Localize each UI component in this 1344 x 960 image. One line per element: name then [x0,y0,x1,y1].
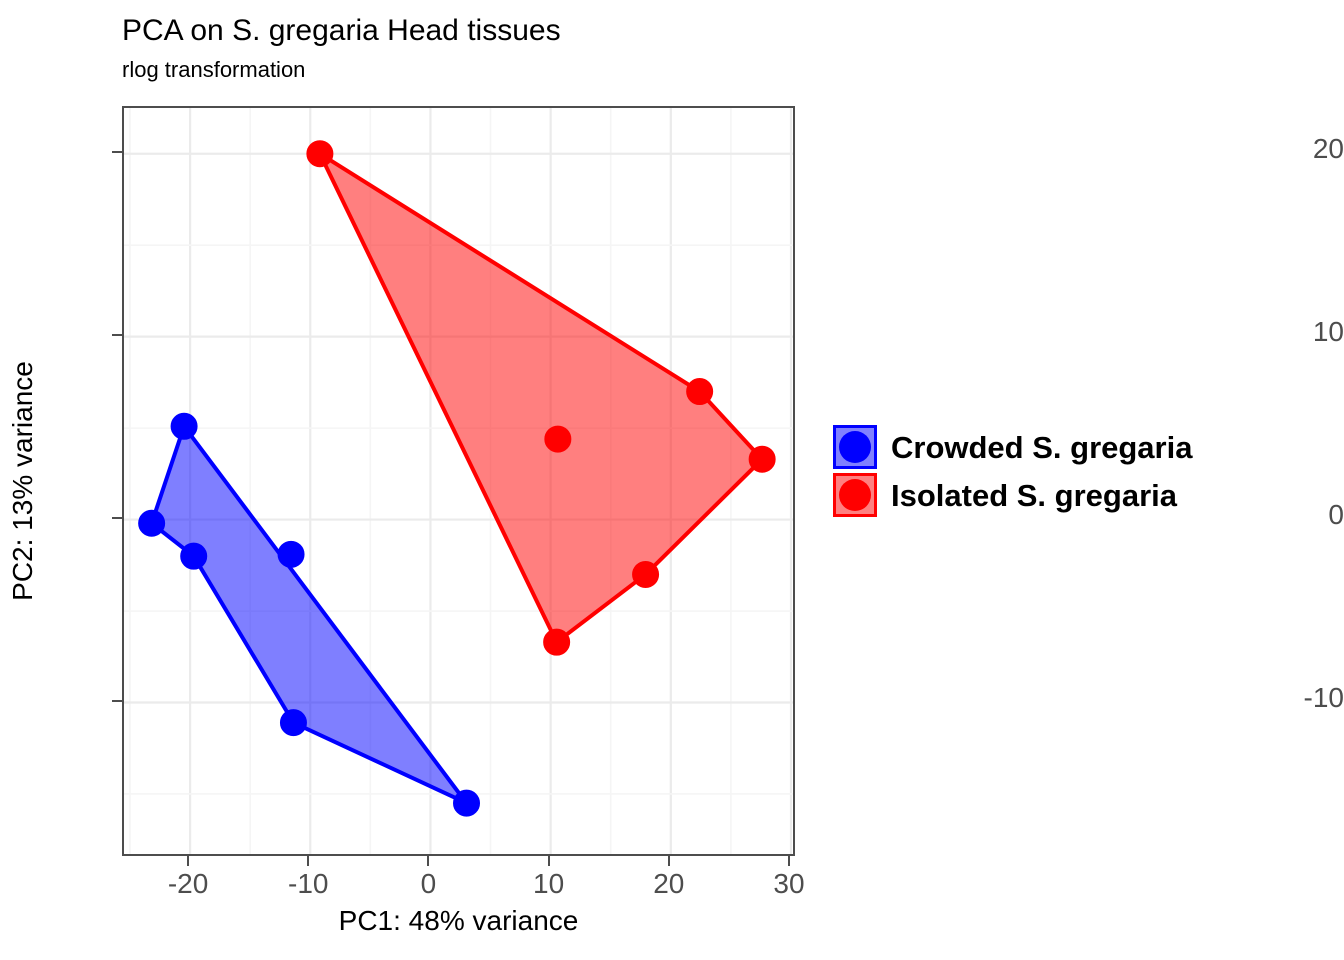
pca-plot-figure: PCA on S. gregaria Head tissues rlog tra… [0,0,1344,960]
x-axis-tick-mark [427,856,429,866]
x-axis-tick-mark [548,856,550,866]
x-axis-tick-mark [788,856,790,866]
x-axis-tick-label: 0 [421,868,437,900]
plot-panel [122,106,795,856]
legend-dot-crowded [839,431,871,463]
x-axis-tick-mark [187,856,189,866]
legend-key-crowded [833,425,877,469]
legend-key-isolated [833,473,877,517]
x-axis-title: PC1: 48% variance [122,905,795,937]
plot-canvas [124,108,795,856]
hull-polygon-series-0 [152,426,467,803]
data-point [181,543,207,569]
legend-item-isolated[interactable]: Isolated S. gregaria [833,471,1192,519]
x-axis-tick-label: 20 [653,868,684,900]
legend-label-crowded: Crowded S. gregaria [891,432,1192,463]
data-point [171,413,197,439]
y-axis-tick-mark [112,151,122,153]
x-axis-tick-label: -10 [288,868,328,900]
data-point [687,379,713,405]
data-point [544,629,570,655]
y-axis-tick-mark [112,334,122,336]
x-axis-tick-mark [668,856,670,866]
legend-dot-isolated [839,479,871,511]
legend-label-isolated: Isolated S. gregaria [891,480,1177,511]
x-axis-tick-label: 30 [773,868,804,900]
chart-title: PCA on S. gregaria Head tissues [122,14,561,48]
data-point [307,141,333,167]
x-axis-tick-mark [307,856,309,866]
data-point [545,426,571,452]
y-axis-title-container: PC2: 13% variance [0,106,46,856]
y-axis-tick-mark [112,517,122,519]
y-axis-tick-label: -10 [1238,682,1344,714]
data-point [454,790,480,816]
legend-item-crowded[interactable]: Crowded S. gregaria [833,423,1192,471]
x-axis-tick-label: 10 [533,868,564,900]
chart-subtitle: rlog transformation [122,57,305,83]
y-axis-tick-label: 10 [1238,316,1344,348]
y-axis-tick-label: 20 [1238,133,1344,165]
legend: Crowded S. gregaria Isolated S. gregaria [833,423,1192,519]
data-point [278,541,304,567]
data-point [280,710,306,736]
data-point [633,561,659,587]
data-point [749,446,775,472]
x-axis-tick-label: -20 [168,868,208,900]
y-axis-title: PC2: 13% variance [7,361,39,601]
data-point [139,510,165,536]
y-axis-tick-mark [112,700,122,702]
y-axis-tick-label: 0 [1238,499,1344,531]
